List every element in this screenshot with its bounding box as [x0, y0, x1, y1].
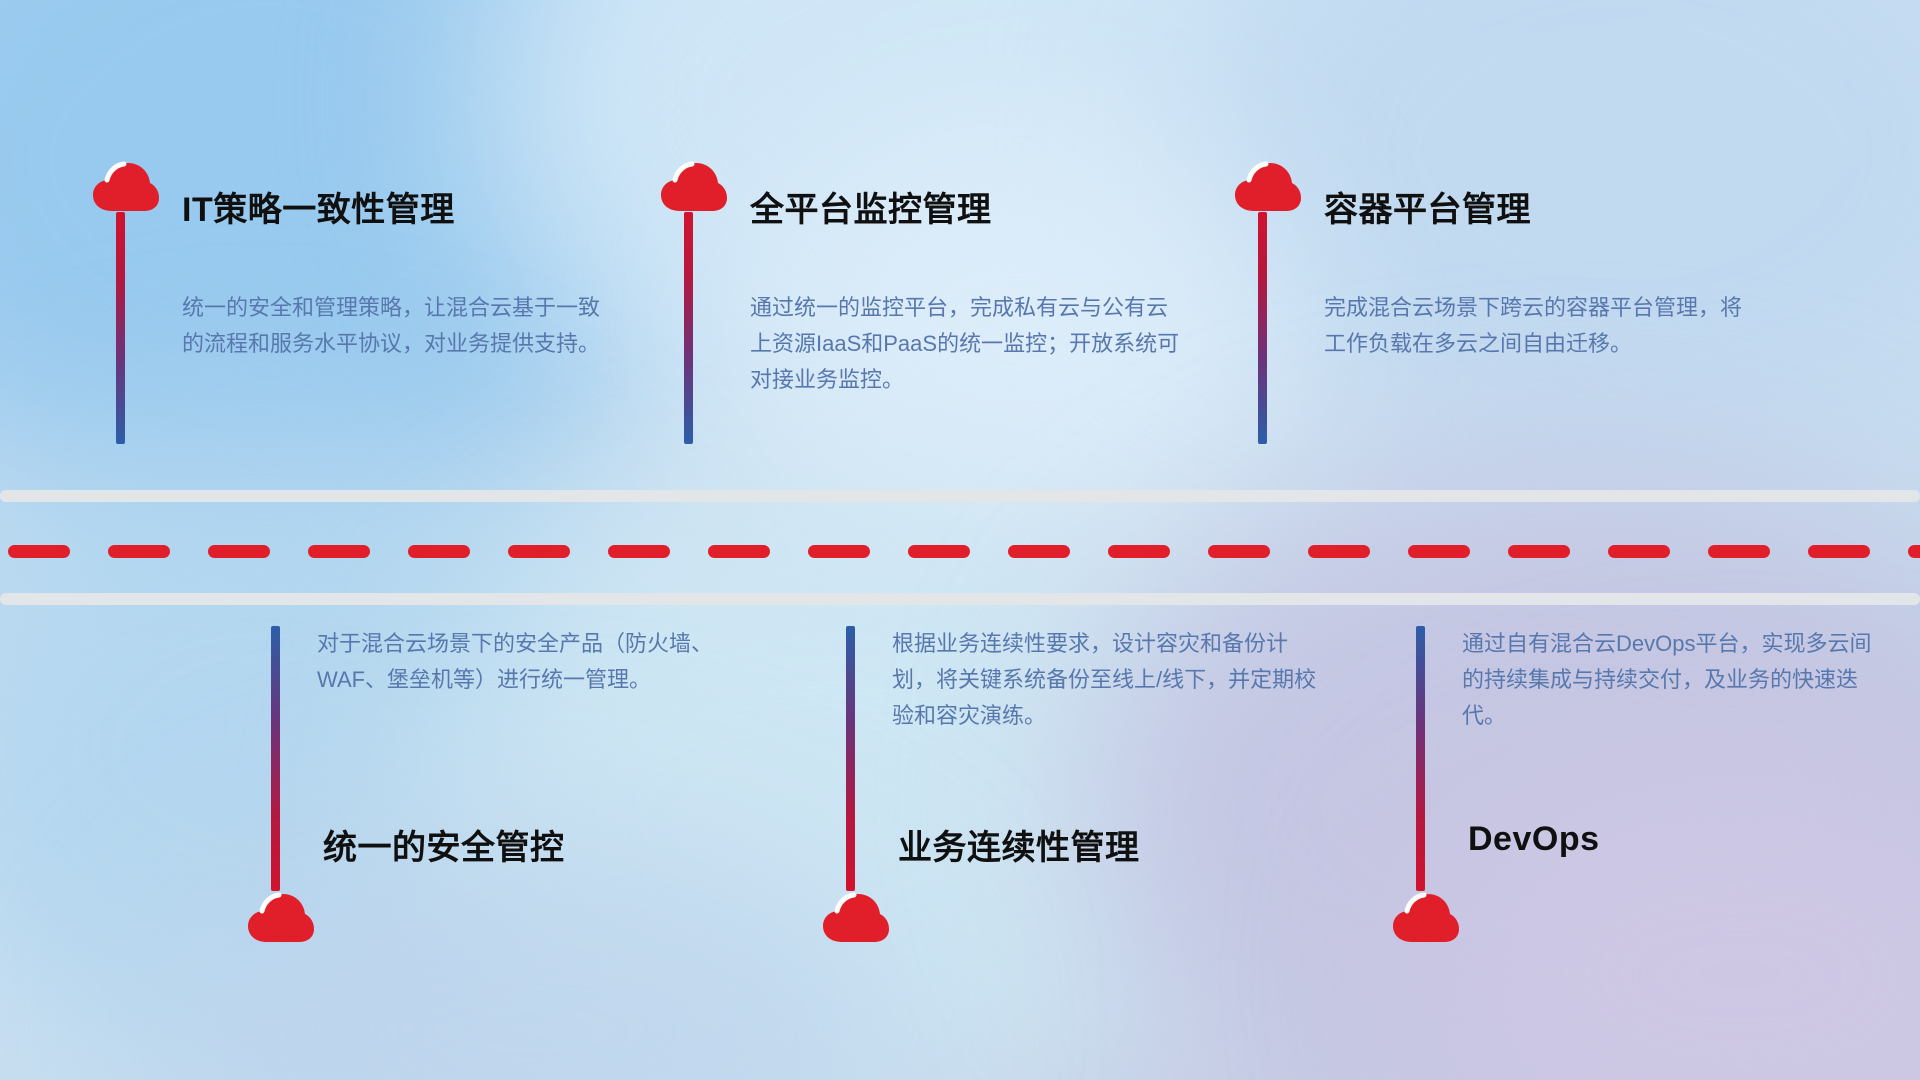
cloud-icon: [820, 891, 890, 943]
cloud-icon: [658, 160, 728, 212]
divider-dashed-line: [0, 545, 1920, 558]
card-description: 通过自有混合云DevOps平台，实现多云间的持续集成与持续交付，及业务的快速迭代…: [1462, 626, 1892, 734]
card-description: 统一的安全和管理策略，让混合云基于一致的流程和服务水平协议，对业务提供支持。: [182, 290, 612, 362]
card-title: 全平台监控管理: [750, 182, 992, 231]
pin-marker-1: [90, 160, 160, 444]
pin-stem: [116, 212, 125, 444]
cloud-icon: [245, 891, 315, 943]
pin-marker-2: [658, 160, 728, 444]
card-title: DevOps: [1468, 820, 1600, 859]
pin-marker-4: [245, 626, 315, 943]
divider-rail-top: [0, 490, 1920, 502]
card-title: IT策略一致性管理: [182, 182, 455, 231]
pin-marker-6: [1390, 626, 1460, 943]
pin-stem: [271, 626, 280, 891]
pin-stem: [846, 626, 855, 891]
card-title: 容器平台管理: [1324, 182, 1531, 231]
infographic-canvas: IT策略一致性管理 统一的安全和管理策略，让混合云基于一致的流程和服务水平协议，…: [0, 0, 1920, 1080]
cloud-icon: [1232, 160, 1302, 212]
card-description: 完成混合云场景下跨云的容器平台管理，将工作负载在多云之间自由迁移。: [1324, 290, 1754, 362]
card-title: 业务连续性管理: [898, 820, 1140, 869]
divider-rail-bottom: [0, 593, 1920, 605]
pin-marker-3: [1232, 160, 1302, 444]
card-description: 根据业务连续性要求，设计容灾和备份计划，将关键系统备份至线上/线下，并定期校验和…: [892, 626, 1322, 734]
cloud-icon: [1390, 891, 1460, 943]
card-description: 通过统一的监控平台，完成私有云与公有云上资源IaaS和PaaS的统一监控；开放系…: [750, 290, 1180, 398]
pin-stem: [684, 212, 693, 444]
card-description: 对于混合云场景下的安全产品（防火墙、WAF、堡垒机等）进行统一管理。: [317, 626, 747, 698]
cloud-icon: [90, 160, 160, 212]
card-title: 统一的安全管控: [323, 820, 565, 869]
pin-stem: [1416, 626, 1425, 891]
pin-marker-5: [820, 626, 890, 943]
pin-stem: [1258, 212, 1267, 444]
